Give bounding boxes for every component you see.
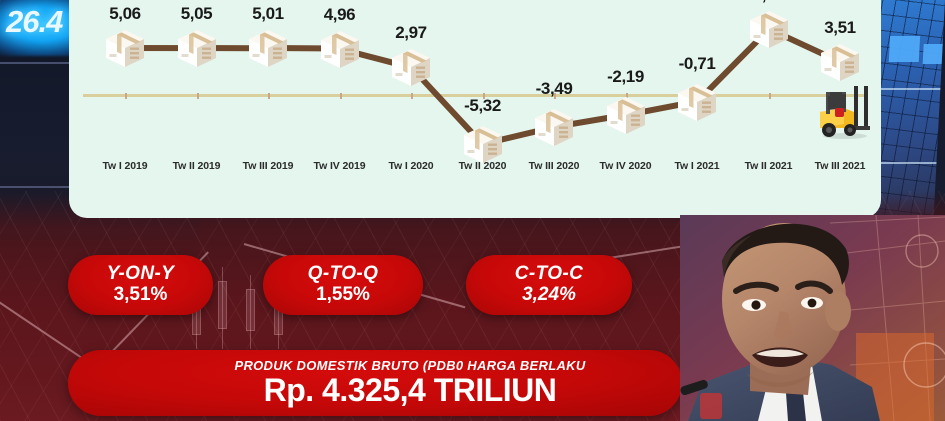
cardboard-box-icon	[746, 6, 792, 52]
metric-badge-value: 3,24%	[522, 284, 576, 307]
broadcast-graphic-stage: 26.4 31.0 12 5,06	[0, 0, 945, 421]
metric-badge-title: Y-ON-Y	[107, 264, 175, 284]
axis-tick	[769, 93, 771, 99]
cardboard-box-icon	[174, 25, 220, 71]
chart-value-label: 5,06	[109, 4, 141, 24]
gdp-total-banner: PRODUK DOMESTIK BRUTO (PDB0 HARGA BERLAK…	[68, 350, 682, 416]
cardboard-box-icon	[245, 25, 291, 71]
chart-x-label: Tw II 2020	[459, 160, 507, 172]
chart-value-label: 7,07	[753, 0, 785, 5]
glow-number: 26.4	[6, 4, 62, 40]
cardboard-box-icon	[388, 44, 434, 90]
cardboard-box-icon	[317, 26, 363, 72]
metric-badge-c-to-c: C-TO-C3,24%	[466, 255, 632, 315]
chart-x-label: Tw IV 2020	[600, 160, 652, 172]
chart-value-label: 5,05	[181, 4, 213, 24]
metric-badge-value: 1,55%	[316, 284, 370, 307]
chart-value-label: 3,51	[824, 18, 856, 38]
cardboard-box-icon	[102, 25, 148, 71]
metric-badge-value: 3,51%	[114, 284, 168, 307]
chart-x-label: Tw II 2019	[173, 160, 221, 172]
cardboard-box-icon	[817, 39, 863, 85]
metric-badge-q-to-q: Q-TO-Q1,55%	[263, 255, 423, 315]
chart-x-label: Tw I 2020	[388, 160, 433, 172]
chart-x-label: Tw I 2021	[674, 160, 719, 172]
metric-badge-title: Q-TO-Q	[308, 264, 379, 284]
cardboard-box-icon	[531, 104, 577, 150]
chart-x-label: Tw III 2021	[815, 160, 866, 172]
gdp-banner-caption: PRODUK DOMESTIK BRUTO (PDB0 HARGA BERLAK…	[234, 359, 585, 372]
chart-value-label: -5,32	[464, 96, 501, 116]
axis-tick	[411, 93, 413, 99]
axis-tick	[340, 93, 342, 99]
gdp-growth-chart-panel: 5,06 5,05 5,01 4,96 2,97 -5,32	[69, 0, 881, 218]
gdp-banner-amount: Rp. 4.325,4 TRILIUN	[264, 374, 557, 408]
cardboard-box-icon	[674, 79, 720, 125]
axis-tick	[197, 93, 199, 99]
chart-x-label: Tw IV 2019	[314, 160, 366, 172]
axis-tick	[125, 93, 127, 99]
chart-x-label: Tw III 2020	[529, 160, 580, 172]
chart-x-label: Tw I 2019	[102, 160, 147, 172]
forklift-icon	[814, 86, 876, 140]
chart-value-label: 5,01	[252, 4, 284, 24]
cardboard-box-icon	[603, 92, 649, 138]
chart-x-label: Tw III 2019	[243, 160, 294, 172]
chart-x-label: Tw II 2021	[745, 160, 793, 172]
chart-value-label: -0,71	[679, 54, 716, 74]
axis-tick	[268, 93, 270, 99]
metric-badge-y-on-y: Y-ON-Y3,51%	[68, 255, 213, 315]
metric-badge-title: C-TO-C	[515, 264, 584, 284]
speaker-video-overlay	[680, 215, 945, 421]
chart-value-label: -2,19	[607, 67, 644, 87]
chart-value-label: 4,96	[324, 5, 356, 25]
chart-value-label: -3,49	[536, 79, 573, 99]
chart-value-label: 2,97	[395, 23, 427, 43]
